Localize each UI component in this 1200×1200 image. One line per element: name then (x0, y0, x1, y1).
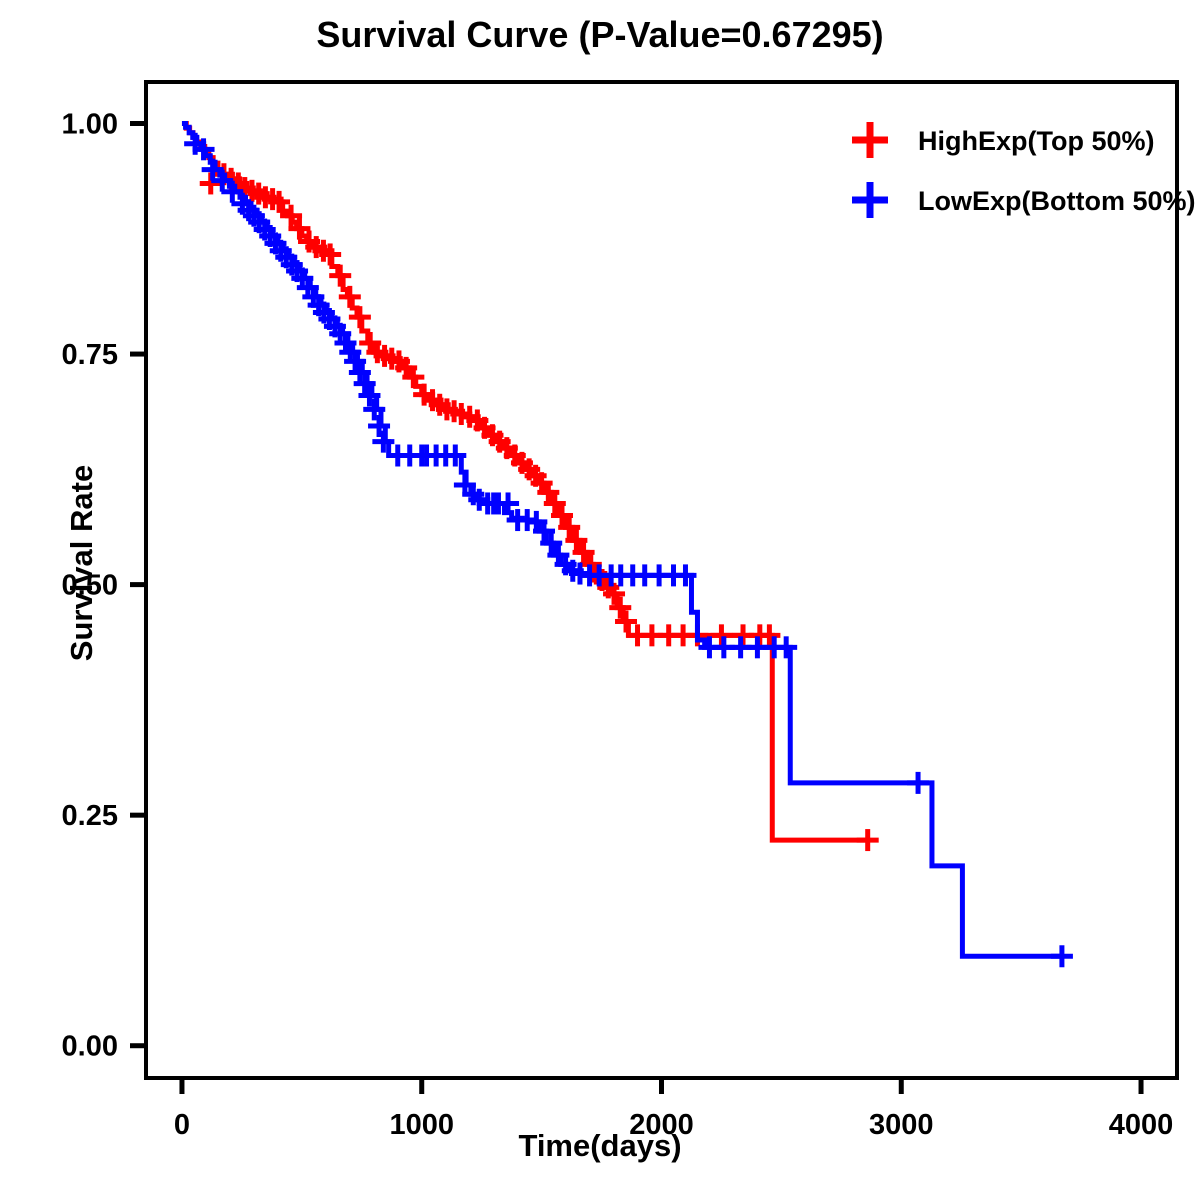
chart-legend: HighExp(Top 50%)LowExp(Bottom 50%) (852, 122, 1196, 218)
legend-item-high-exp[interactable]: HighExp(Top 50%) (852, 122, 1155, 158)
plot-area: 01000200030004000 0.000.250.500.751.00 H… (0, 0, 1200, 1200)
series-high-exp (182, 124, 879, 852)
y-tick-label: 0.00 (62, 1031, 118, 1063)
x-tick-label: 2000 (629, 1109, 694, 1141)
x-axis-ticks: 01000200030004000 (174, 1078, 1173, 1141)
y-axis-ticks: 0.000.250.500.751.00 (62, 109, 146, 1063)
series-layer (182, 124, 1073, 968)
y-tick-label: 1.00 (62, 109, 118, 141)
x-tick-label: 1000 (389, 1109, 454, 1141)
step-line (182, 124, 870, 841)
legend-item-low-exp[interactable]: LowExp(Bottom 50%) (852, 182, 1196, 218)
survival-curve-figure: Survival Curve (P-Value=0.67295) Surviva… (0, 0, 1200, 1200)
legend-label: LowExp(Bottom 50%) (918, 186, 1196, 216)
y-tick-label: 0.50 (62, 570, 118, 602)
legend-label: HighExp(Top 50%) (918, 126, 1155, 156)
y-tick-label: 0.25 (62, 800, 118, 832)
x-tick-label: 0 (174, 1109, 190, 1141)
x-tick-label: 4000 (1109, 1109, 1174, 1141)
x-tick-label: 3000 (869, 1109, 934, 1141)
y-tick-label: 0.75 (62, 339, 118, 371)
